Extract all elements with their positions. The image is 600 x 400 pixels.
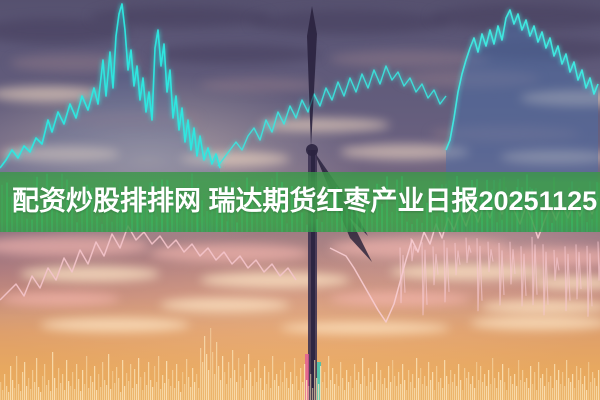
chart-line <box>446 10 598 150</box>
chart-line <box>0 4 220 168</box>
chart-line <box>218 66 446 166</box>
page-title: 配资炒股排排网 瑞达期货红枣产业日报20251125 <box>12 186 597 217</box>
banner-image: 配资炒股排排网 瑞达期货红枣产业日报20251125 <box>0 0 600 400</box>
